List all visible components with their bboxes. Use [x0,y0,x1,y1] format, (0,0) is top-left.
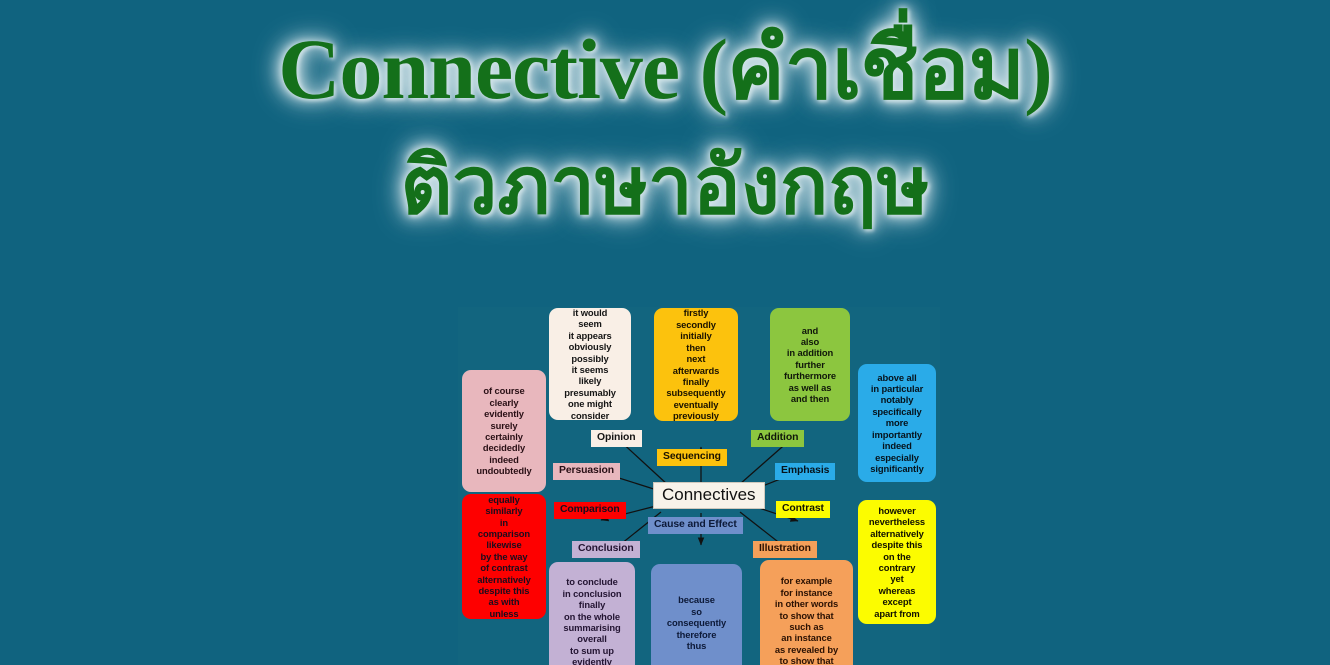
page-subtitle: ติวภาษาอังกฤษ [0,146,1330,226]
wordbox-conclusion-text: to conclude in conclusion finally on the… [562,576,621,665]
label-cause-and-effect[interactable]: Cause and Effect [648,517,743,534]
wordbox-sequencing: firstly secondly initially then next aft… [654,308,738,421]
wordbox-addition: and also in addition further furthermore… [770,308,850,421]
label-persuasion[interactable]: Persuasion [553,463,620,480]
wordbox-emphasis-text: above all in particular notably specific… [870,372,923,475]
wordbox-cause-and-effect: because so consequently therefore thus [651,564,742,665]
wordbox-emphasis: above all in particular notably specific… [858,364,936,482]
wordbox-contrast-text: however nevertheless alternatively despi… [869,505,925,619]
wordbox-cause-and-effect-text: because so consequently therefore thus [667,594,726,651]
heading-block: Connective (คำเชื่อม) ติวภาษาอังกฤษ [0,0,1330,226]
label-contrast[interactable]: Contrast [776,501,830,518]
label-conclusion[interactable]: Conclusion [572,541,640,558]
wordbox-illustration-text: for example for instance in other words … [775,575,838,665]
wordbox-addition-text: and also in addition further furthermore… [784,325,836,405]
wordbox-comparison-text: equally similarly in comparison likewise… [477,494,530,619]
label-emphasis[interactable]: Emphasis [775,463,835,480]
wordbox-illustration: for example for instance in other words … [760,560,853,665]
wordbox-comparison: equally similarly in comparison likewise… [462,494,546,619]
wordbox-opinion: it would seem it appears obviously possi… [549,308,631,420]
label-addition[interactable]: Addition [751,430,804,447]
label-opinion[interactable]: Opinion [591,430,642,447]
wordbox-persuasion-text: of course clearly evidently surely certa… [476,385,531,476]
center-node-connectives[interactable]: Connectives [653,482,765,509]
label-comparison[interactable]: Comparison [554,502,626,519]
label-sequencing[interactable]: Sequencing [657,449,727,466]
wordbox-sequencing-text: firstly secondly initially then next aft… [666,307,725,421]
label-illustration[interactable]: Illustration [753,541,817,558]
wordbox-opinion-text: it would seem it appears obviously possi… [564,307,616,421]
wordbox-conclusion: to conclude in conclusion finally on the… [549,562,635,665]
wordbox-persuasion: of course clearly evidently surely certa… [462,370,546,492]
wordbox-contrast: however nevertheless alternatively despi… [858,500,936,624]
connectives-mind-map: of course clearly evidently surely certa… [458,307,940,665]
page-title: Connective (คำเชื่อม) [0,26,1330,112]
